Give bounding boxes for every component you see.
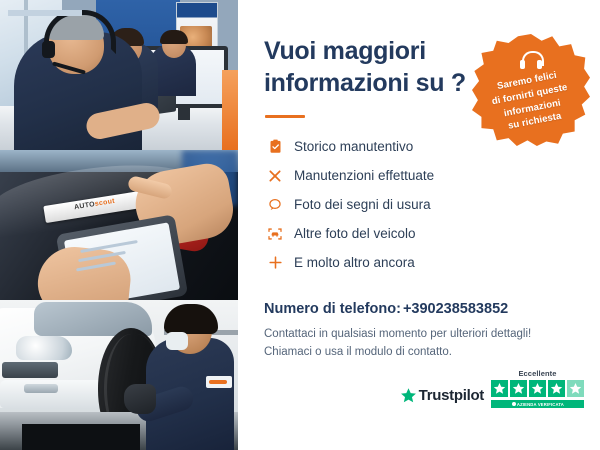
wrench-cross-icon bbox=[264, 168, 286, 184]
page-title: Vuoi maggiori informazioni su ? bbox=[264, 36, 474, 99]
verified-badge-label: AZIENDA VERIFICATA bbox=[517, 401, 564, 406]
trustpilot-rating-label: Eccellente bbox=[491, 369, 584, 378]
headline-line-1: Vuoi maggiori bbox=[264, 37, 426, 65]
list-item-label: Foto dei segni di usura bbox=[294, 197, 431, 212]
headline-line-2: informazioni su ? bbox=[264, 68, 474, 100]
lift-shadow bbox=[22, 424, 140, 450]
list-item-label: E molto altro ancora bbox=[294, 255, 415, 270]
mechanic-glove bbox=[124, 384, 156, 414]
list-item-label: Altre foto del veicolo bbox=[294, 226, 416, 241]
trustpilot-score-block: Eccellente bbox=[491, 369, 584, 408]
info-panel: Saremo felici di fornirti queste informa… bbox=[238, 0, 600, 450]
star-box-partial bbox=[567, 380, 584, 397]
car-grille bbox=[2, 362, 58, 378]
star-box bbox=[510, 380, 527, 397]
phone-number[interactable]: +390238583852 bbox=[403, 301, 508, 317]
title-underline-divider bbox=[265, 115, 305, 118]
phone-label: Numero di telefono: bbox=[264, 301, 401, 317]
trustpilot-stars bbox=[491, 380, 584, 397]
plus-icon bbox=[264, 254, 286, 271]
verified-business-badge: AZIENDA VERIFICATA bbox=[491, 400, 584, 408]
star-box bbox=[529, 380, 546, 397]
trustpilot-logo: Trustpilot bbox=[400, 387, 484, 408]
photo-column: AUTOscout bbox=[0, 0, 238, 450]
headset-earcup-right bbox=[537, 60, 542, 69]
request-info-badge: Saremo felici di fornirti queste informa… bbox=[472, 34, 590, 146]
phone-number-line[interactable]: Numero di telefono:+390238583852 bbox=[264, 301, 576, 317]
headset-icon bbox=[519, 51, 543, 71]
trustpilot-brand-name: Trustpilot bbox=[419, 387, 484, 404]
list-item-label: Storico manutentivo bbox=[294, 139, 413, 154]
call-center-agents-photo bbox=[0, 0, 238, 150]
promo-card: AUTOscout bbox=[0, 0, 600, 450]
contact-line-1: Contattaci in qualsiasi momento per ulte… bbox=[264, 326, 576, 344]
clipboard-check-icon bbox=[264, 139, 286, 154]
headset-earcup-left bbox=[520, 60, 525, 69]
orange-divider-strip bbox=[222, 70, 238, 150]
list-item[interactable]: E molto altro ancora bbox=[264, 248, 576, 277]
tablet-vehicle-inspection-photo: AUTOscout bbox=[0, 150, 238, 300]
uniform-logo-patch bbox=[206, 376, 232, 388]
car-headlight bbox=[16, 336, 72, 360]
list-item[interactable]: Manutenzioni effettuate bbox=[264, 161, 576, 190]
contact-line-2: Chiamaci o usa il modulo di contatto. bbox=[264, 344, 576, 362]
star-box bbox=[548, 380, 565, 397]
monitor-stand bbox=[178, 108, 190, 120]
contact-instructions: Contattaci in qualsiasi momento per ulte… bbox=[264, 326, 576, 362]
trustpilot-star-icon bbox=[400, 387, 417, 404]
agent-background-2-hair bbox=[160, 30, 188, 44]
list-item-label: Manutenzioni effettuate bbox=[294, 168, 434, 183]
fog-light bbox=[24, 384, 58, 393]
speech-bubble-icon bbox=[264, 197, 286, 213]
monitor-screen-bar bbox=[8, 10, 82, 16]
list-item[interactable]: Foto dei segni di usura bbox=[264, 190, 576, 219]
star-box bbox=[491, 380, 508, 397]
car-scan-frame-icon bbox=[264, 226, 286, 242]
list-item[interactable]: Altre foto del veicolo bbox=[264, 219, 576, 248]
mechanic-wheel-photo bbox=[0, 300, 238, 450]
feature-list: Storico manutentivo Manutenzioni effettu… bbox=[264, 132, 576, 277]
verified-check-icon bbox=[512, 402, 516, 406]
headset-earcup bbox=[42, 41, 55, 58]
trustpilot-rating[interactable]: Trustpilot Eccellente bbox=[400, 369, 584, 408]
mechanic-face-mask bbox=[166, 332, 188, 350]
